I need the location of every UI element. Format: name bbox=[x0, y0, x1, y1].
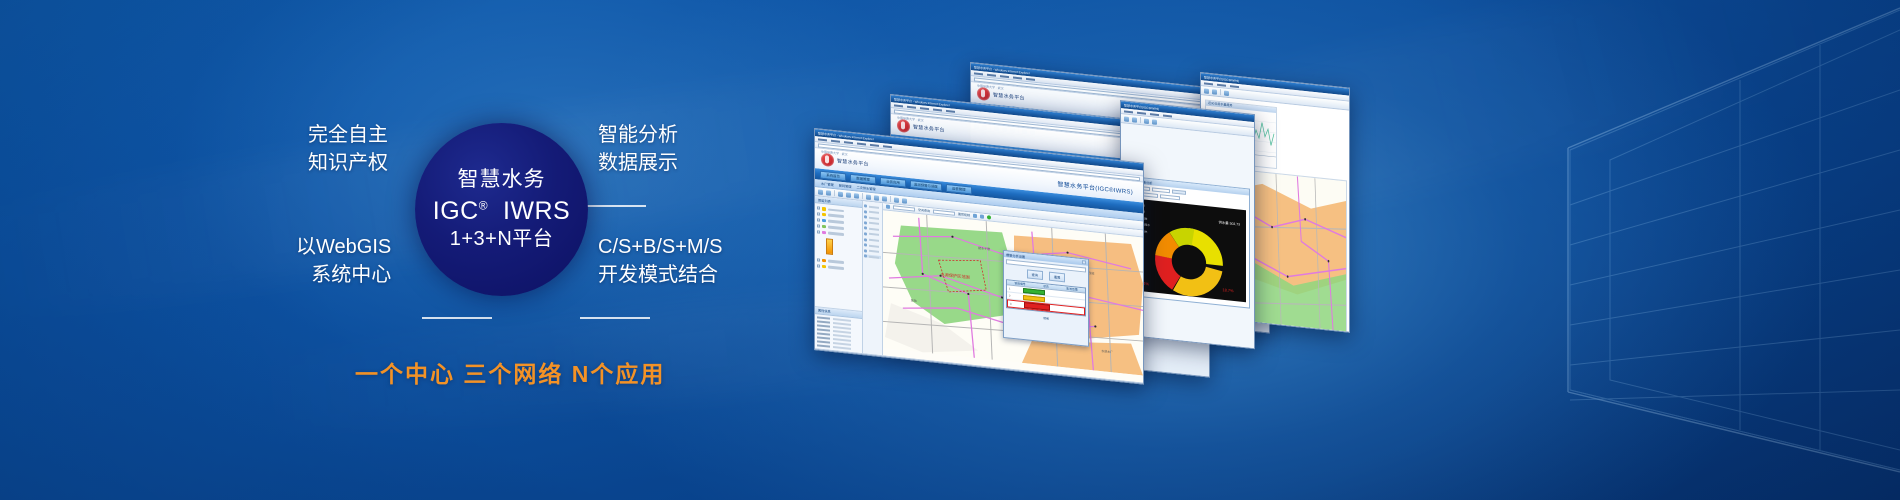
banner-root: 完全自主 知识产权 智能分析 数据展示 以WebGIS 系统中心 C/S+B/S… bbox=[0, 0, 1900, 500]
tool-item bbox=[864, 249, 881, 254]
row-id: 3 bbox=[1008, 302, 1024, 307]
feature-right-top-line1: 智能分析 bbox=[598, 124, 678, 146]
sub-nav-tab-pipe[interactable]: 管网管理 bbox=[839, 183, 852, 189]
tool-item bbox=[864, 238, 881, 243]
hub-brand: IGC bbox=[433, 197, 479, 225]
svg-text:泵站: 泵站 bbox=[911, 297, 917, 303]
map-toolbar-label2: 图层控制 bbox=[958, 212, 970, 217]
status-text: 就绪 bbox=[818, 350, 826, 355]
svg-text:18.7%: 18.7% bbox=[1222, 287, 1234, 293]
app-window-main[interactable]: 智慧水务平台 - Windows Internet Explorer 中国地质大… bbox=[814, 128, 1144, 385]
layer-panel[interactable]: 图层列表 属性信息 bbox=[815, 196, 863, 353]
feature-left-bottom-line2: 系统中心 bbox=[296, 261, 391, 289]
brand-name: 智慧水务平台 bbox=[837, 157, 869, 167]
tagline: 一个中心 三个网络 N个应用 bbox=[355, 355, 665, 389]
feature-right-bottom-line1: C/S+B/S+M/S bbox=[598, 236, 723, 258]
platform-title: 智慧水务平台(IGC®IWRS) bbox=[1057, 179, 1133, 196]
property-rows bbox=[815, 314, 862, 353]
tool-item bbox=[864, 221, 881, 226]
row-id: 2 bbox=[1007, 294, 1023, 299]
feature-right-top-line2: 数据展示 bbox=[598, 149, 678, 177]
feature-right-bottom-line2: 开发模式结合 bbox=[598, 261, 723, 289]
connector-right-top bbox=[580, 205, 646, 207]
registered-mark-icon: ® bbox=[479, 198, 488, 212]
tool-item bbox=[864, 204, 881, 209]
brand-name: 智慧水务平台 bbox=[993, 91, 1025, 101]
tool-item bbox=[864, 255, 881, 260]
tool-item bbox=[864, 243, 881, 248]
feature-left-top-line2: 知识产权 bbox=[308, 149, 388, 177]
tool-item bbox=[864, 227, 881, 232]
property-panel[interactable]: 属性信息 bbox=[815, 306, 862, 353]
feature-left-top: 完全自主 知识产权 bbox=[308, 121, 388, 177]
dialog-body: 查询 重置 管段编号 状态 影响范围 1 bbox=[1004, 257, 1088, 327]
connector-right-bottom bbox=[580, 317, 650, 319]
brand-name: 智慧水务平台 bbox=[913, 123, 945, 133]
feature-right-bottom: C/S+B/S+M/S 开发模式结合 bbox=[598, 233, 723, 289]
map-toolbar-label: 空间查询 bbox=[918, 208, 930, 213]
tool-item bbox=[864, 232, 881, 237]
hub-product: IWRS bbox=[503, 197, 570, 225]
row-id: 1 bbox=[1007, 287, 1023, 292]
screenshot-stack: 智慧水务平台 - Windows Internet Explorer 中国地质大… bbox=[790, 40, 1350, 380]
feature-right-top: 智能分析 数据展示 bbox=[598, 121, 678, 177]
feature-left-top-line1: 完全自主 bbox=[308, 124, 388, 146]
layer-tree[interactable] bbox=[815, 203, 862, 275]
hub-circle: 智慧水务 IGC® IWRS 1+3+N平台 bbox=[415, 123, 588, 296]
analysis-dialog[interactable]: 爆管分析设置 查询 重置 管段编号 bbox=[1003, 250, 1089, 347]
tool-item bbox=[864, 210, 881, 215]
legend-swatch bbox=[826, 239, 833, 256]
feature-left-bottom-line1: 以WebGIS bbox=[296, 236, 391, 258]
close-icon[interactable] bbox=[1082, 260, 1086, 264]
hub-title-cn: 智慧水务 bbox=[458, 168, 546, 192]
dialog-query-button[interactable]: 查询 bbox=[1027, 269, 1043, 280]
map-view[interactable]: 空间查询 图层控制 bbox=[883, 203, 1143, 382]
tool-item bbox=[864, 215, 881, 220]
sub-nav-tab-plant[interactable]: 水厂管理 bbox=[821, 181, 834, 187]
hub-platform: 1+3+N平台 bbox=[450, 228, 554, 251]
feature-left-bottom: 以WebGIS 系统中心 bbox=[296, 233, 391, 289]
sub-nav-tab-second[interactable]: 二次供水管理 bbox=[857, 184, 876, 191]
dialog-reset-button[interactable]: 重置 bbox=[1049, 272, 1065, 283]
feature-diagram: 完全自主 知识产权 智能分析 数据展示 以WebGIS 系统中心 C/S+B/S… bbox=[250, 105, 810, 385]
connector-left-bottom bbox=[422, 317, 492, 319]
hub-brand-line: IGC® IWRS bbox=[433, 197, 570, 226]
tool-column[interactable] bbox=[863, 201, 883, 355]
